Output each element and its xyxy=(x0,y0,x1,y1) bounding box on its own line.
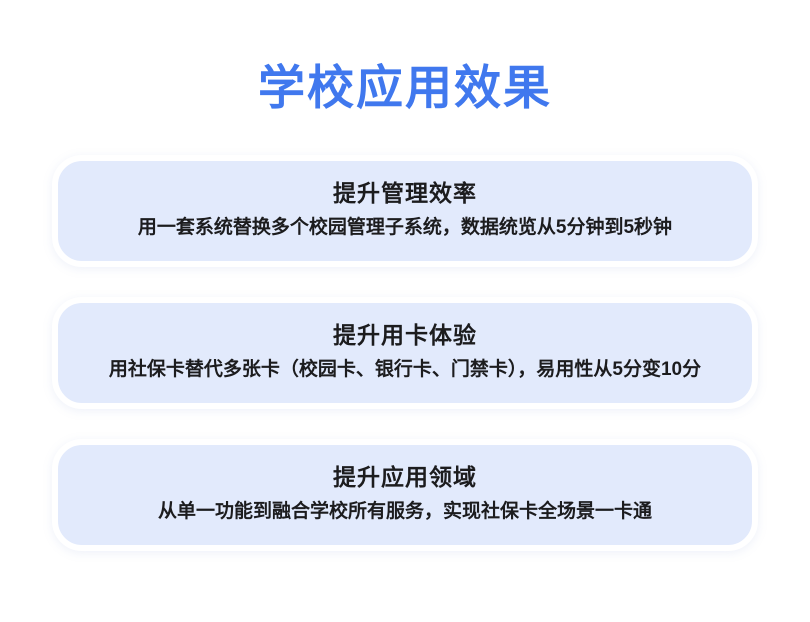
benefit-card-title: 提升管理效率 xyxy=(84,177,726,209)
benefit-card-list: 提升管理效率 用一套系统替换多个校园管理子系统，数据统览从5分钟到5秒钟 提升用… xyxy=(0,155,810,551)
benefit-card: 提升用卡体验 用社保卡替代多张卡（校园卡、银行卡、门禁卡），易用性从5分变10分 xyxy=(52,297,758,409)
page-root: 学校应用效果 提升管理效率 用一套系统替换多个校园管理子系统，数据统览从5分钟到… xyxy=(0,0,810,622)
benefit-card-title: 提升应用领域 xyxy=(84,461,726,493)
benefit-card-description: 用社保卡替代多张卡（校园卡、银行卡、门禁卡），易用性从5分变10分 xyxy=(84,355,726,385)
page-title: 学校应用效果 xyxy=(0,60,810,116)
benefit-card-title: 提升用卡体验 xyxy=(84,319,726,351)
benefit-card: 提升管理效率 用一套系统替换多个校园管理子系统，数据统览从5分钟到5秒钟 xyxy=(52,155,758,267)
benefit-card-description: 从单一功能到融合学校所有服务，实现社保卡全场景一卡通 xyxy=(84,497,726,527)
benefit-card: 提升应用领域 从单一功能到融合学校所有服务，实现社保卡全场景一卡通 xyxy=(52,439,758,551)
benefit-card-description: 用一套系统替换多个校园管理子系统，数据统览从5分钟到5秒钟 xyxy=(84,213,726,243)
